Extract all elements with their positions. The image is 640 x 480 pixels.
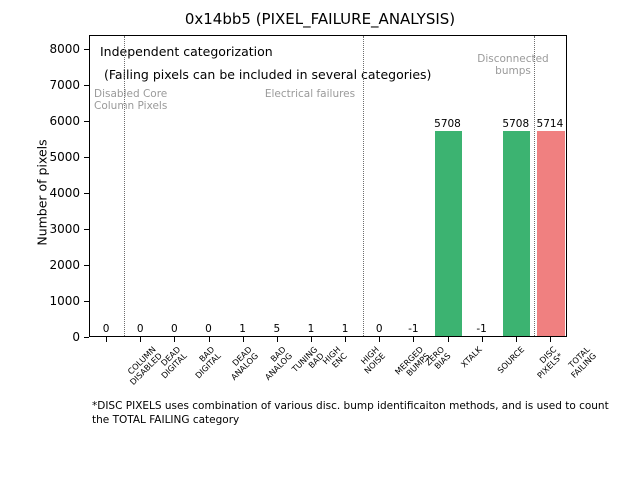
bar-value-label: 5	[273, 323, 280, 335]
y-tick-mark	[84, 337, 89, 338]
annotation-disconnected-bumps: Disconnected bumps	[458, 53, 567, 78]
group-divider	[363, 36, 364, 337]
chart-title: 0x14bb5 (PIXEL_FAILURE_ANALYSIS)	[0, 10, 640, 28]
x-tick-mark	[140, 337, 141, 342]
x-tick-label: ZEROBIAS	[424, 345, 452, 373]
annotation-electrical-failures: Electrical failures	[210, 88, 410, 100]
y-tick-mark	[84, 157, 89, 158]
x-tick-label: DEADDIGITAL	[154, 345, 189, 380]
x-tick-mark	[106, 337, 107, 342]
bar-value-label: 0	[205, 323, 212, 335]
bar[interactable]	[435, 131, 462, 336]
x-tick-label: DISCPIXELS*	[529, 345, 564, 380]
bar-value-label: 5708	[434, 118, 461, 130]
y-tick-label: 5000	[32, 150, 80, 164]
y-tick-mark	[84, 229, 89, 230]
annotation-independent-categorization: Independent categorization	[100, 44, 273, 59]
y-tick-label: 2000	[32, 258, 80, 272]
y-tick-mark	[84, 301, 89, 302]
bar-value-label: 5714	[537, 118, 564, 130]
x-tick-mark	[482, 337, 483, 342]
plot-area: Independent categorization (Failing pixe…	[89, 35, 567, 337]
bar-value-label: 0	[137, 323, 144, 335]
chart-footnote: *DISC PIXELS uses combination of various…	[92, 400, 612, 427]
bar[interactable]	[537, 131, 564, 336]
x-tick-mark	[413, 337, 414, 342]
x-tick-label: SOURCE	[496, 345, 526, 375]
y-tick-label: 1000	[32, 294, 80, 308]
bar-value-label: 1	[239, 323, 246, 335]
y-tick-mark	[84, 49, 89, 50]
pixel-failure-analysis-chart: 0x14bb5 (PIXEL_FAILURE_ANALYSIS) Number …	[0, 0, 640, 480]
y-tick-label: 3000	[32, 222, 80, 236]
x-tick-mark	[345, 337, 346, 342]
x-tick-label: XTALK	[459, 345, 483, 369]
y-tick-label: 8000	[32, 42, 80, 56]
y-tick-label: 7000	[32, 78, 80, 92]
bar-value-label: 0	[103, 323, 110, 335]
bar-value-label: 0	[376, 323, 383, 335]
x-tick-mark	[311, 337, 312, 342]
y-tick-label: 6000	[32, 114, 80, 128]
y-tick-label: 4000	[32, 186, 80, 200]
x-tick-mark	[277, 337, 278, 342]
bar-value-label: -1	[476, 323, 486, 335]
x-tick-mark	[209, 337, 210, 342]
bar-value-label: 1	[342, 323, 349, 335]
y-tick-mark	[84, 265, 89, 266]
bar[interactable]	[503, 131, 530, 336]
x-tick-label: TUNINGBAD	[290, 345, 325, 380]
x-tick-mark	[379, 337, 380, 342]
x-tick-mark	[174, 337, 175, 342]
x-tick-label: HIGHENC	[321, 345, 348, 372]
bar-value-label: 5708	[502, 118, 529, 130]
group-divider	[124, 36, 125, 337]
bar-value-label: 0	[171, 323, 178, 335]
bar-value-label: 1	[308, 323, 315, 335]
annotation-disabled-core-column-pixels: Disabled Core Column Pixels	[94, 88, 204, 113]
x-tick-label: DEADANALOG	[223, 345, 259, 381]
y-tick-mark	[84, 121, 89, 122]
x-tick-label: BADANALOG	[257, 345, 293, 381]
x-tick-label: BADDIGITAL	[188, 345, 223, 380]
x-tick-mark	[448, 337, 449, 342]
x-tick-mark	[550, 337, 551, 342]
x-tick-label: HIGHNOISE	[356, 345, 386, 375]
y-tick-mark	[84, 85, 89, 86]
y-tick-label: 0	[32, 330, 80, 344]
x-tick-mark	[516, 337, 517, 342]
group-divider	[534, 36, 535, 337]
x-tick-mark	[243, 337, 244, 342]
bar-value-label: -1	[408, 323, 418, 335]
x-tick-label: TOTALFAILING	[563, 345, 597, 379]
annotation-several-categories: (Failing pixels can be included in sever…	[104, 67, 431, 82]
y-tick-mark	[84, 193, 89, 194]
